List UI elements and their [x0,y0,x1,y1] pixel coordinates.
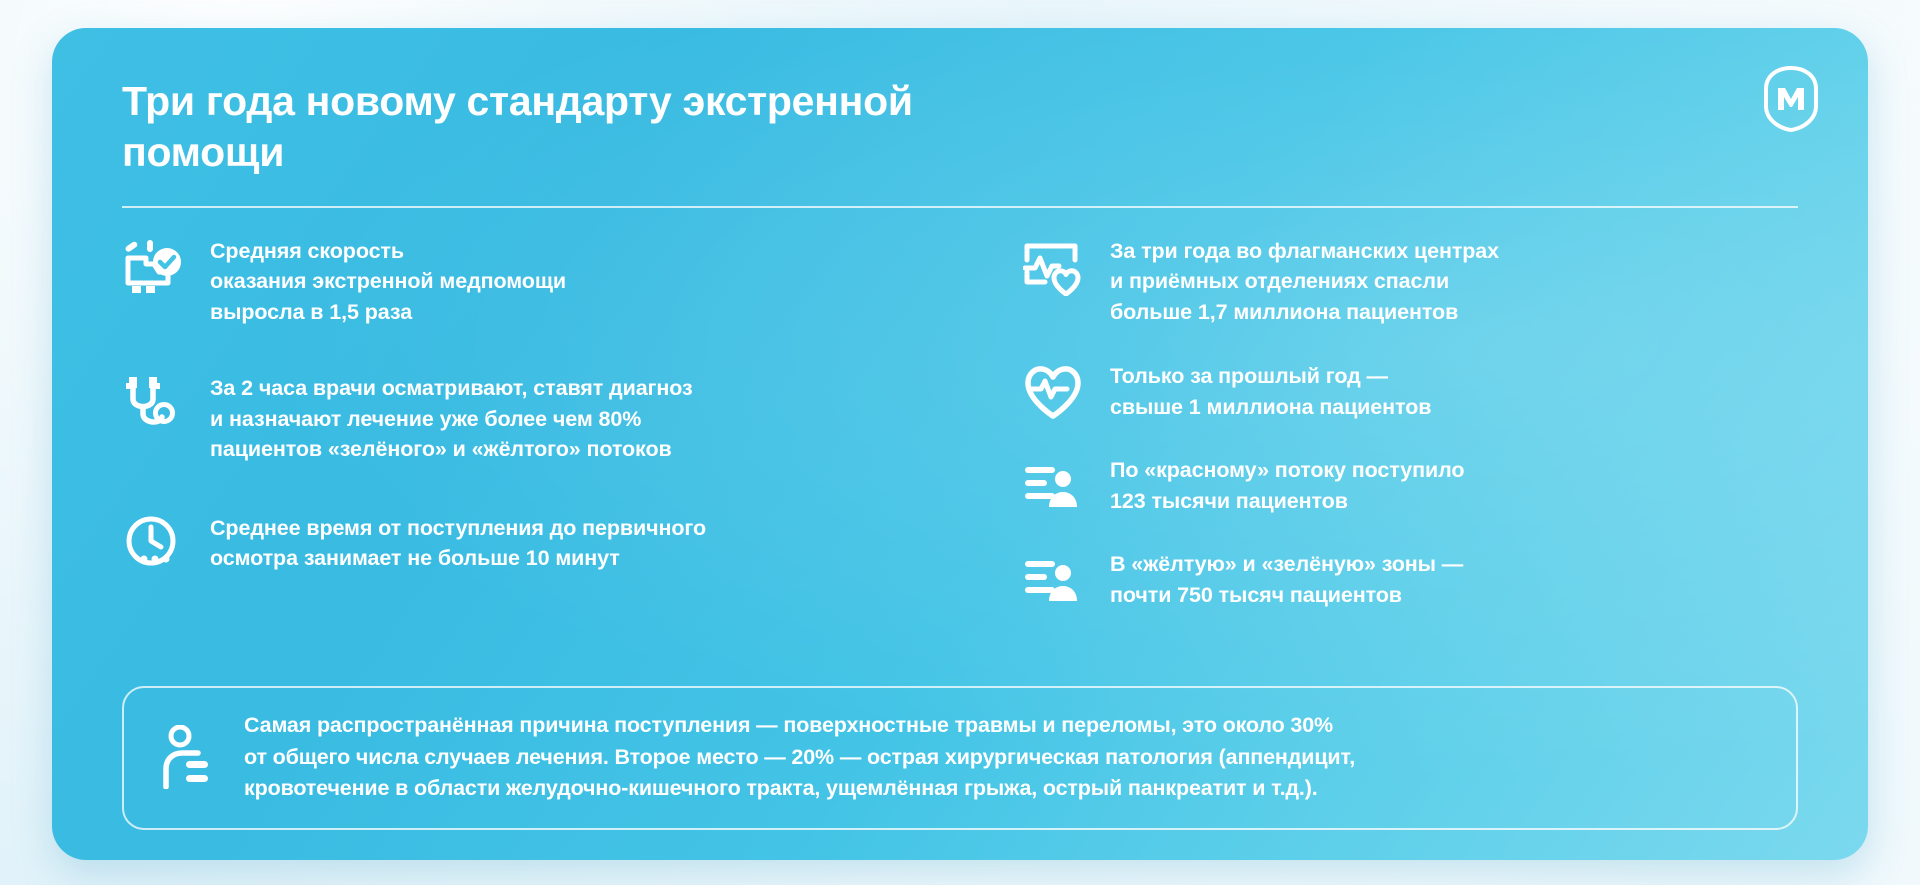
patient-list-icon [1022,549,1084,611]
infographic-card: Три года новому стандарту экстренной пом… [52,28,1868,860]
stat-text: За три года во флагманских центрах и при… [1110,234,1499,328]
stat-text: По «красному» потоку поступило 123 тысяч… [1110,453,1464,516]
monitor-heart-icon [1022,236,1084,298]
left-column: Средняя скорость оказания экстренной мед… [122,234,960,638]
header-divider [122,206,1798,208]
stat-text: Среднее время от поступления до первично… [210,511,706,574]
heart-pulse-icon [1022,361,1084,423]
stat-item-saved-patients: За три года во флагманских центрах и при… [1022,234,1798,328]
stethoscope-icon [122,373,184,435]
ambulance-check-icon [122,236,184,298]
stat-text: Только за прошлый год — свыше 1 миллиона… [1110,359,1431,422]
footnote-box: Самая распространённая причина поступлен… [122,686,1798,830]
stat-item-first-exam-time: Среднее время от поступления до первично… [122,511,960,575]
footnote-text: Самая распространённая причина поступлен… [244,710,1355,804]
stat-text: За 2 часа врачи осматривают, ставят диаг… [210,371,693,465]
stats-columns: Средняя скорость оказания экстренной мед… [100,234,1820,638]
stat-item-last-year-patients: Только за прошлый год — свыше 1 миллиона… [1022,359,1798,423]
stat-item-ambulance-speed: Средняя скорость оказания экстренной мед… [122,234,960,328]
stat-item-two-hours-diagnosis: За 2 часа врачи осматривают, ставят диаг… [122,371,960,465]
mos-ru-heart-logo [1760,66,1822,132]
right-column: За три года во флагманских центрах и при… [960,234,1798,638]
stat-text: Средняя скорость оказания экстренной мед… [210,234,566,328]
stat-item-yellow-green-zones: В «жёлтую» и «зелёную» зоны — почти 750 … [1022,547,1798,611]
clock-icon [122,513,184,575]
person-injured-icon [154,724,216,790]
stat-item-red-flow: По «красному» потоку поступило 123 тысяч… [1022,453,1798,517]
page-title: Три года новому стандарту экстренной пом… [100,68,980,178]
stat-text: В «жёлтую» и «зелёную» зоны — почти 750 … [1110,547,1463,610]
patient-list-icon [1022,455,1084,517]
